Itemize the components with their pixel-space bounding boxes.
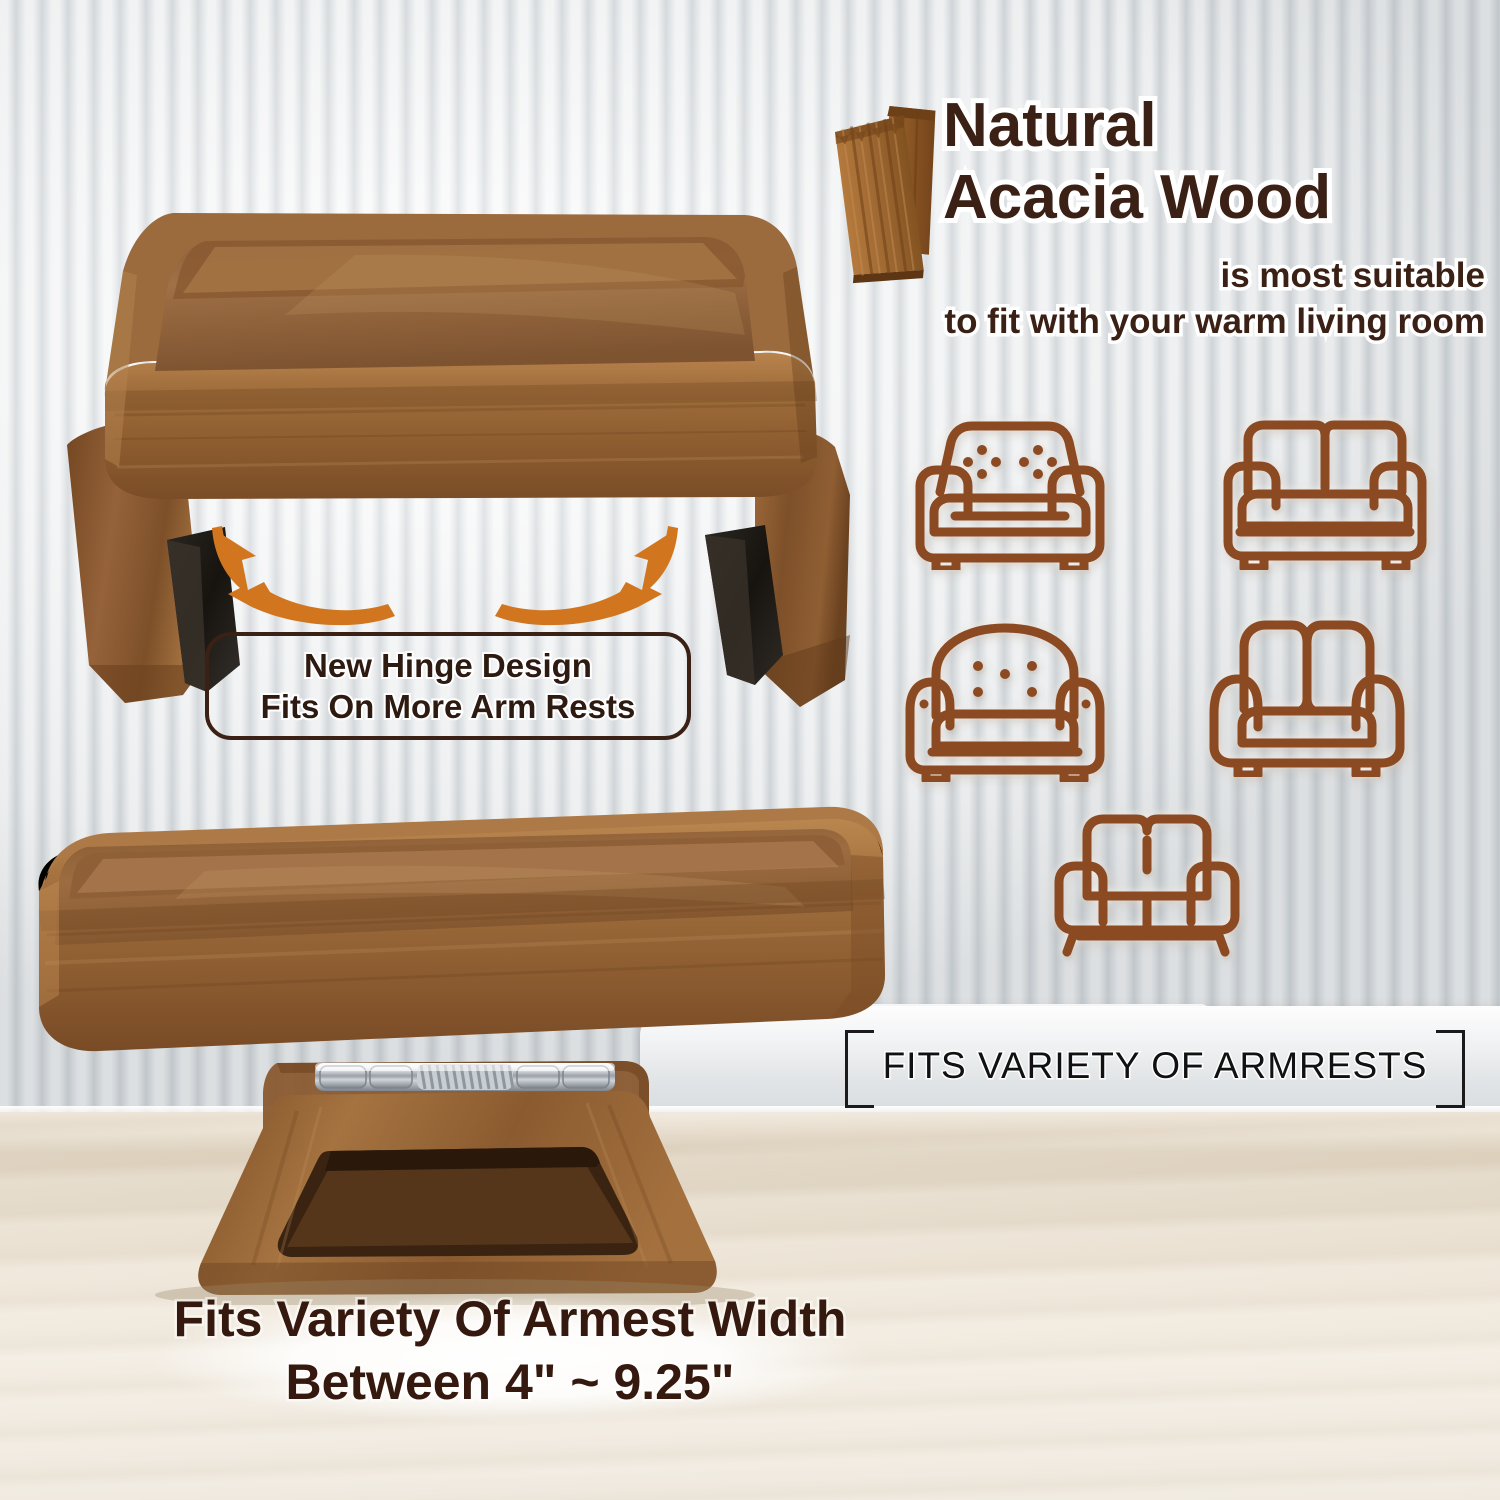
armrest-type-icon-grid: [900, 412, 1460, 992]
curved-arrow-right-icon: [495, 526, 678, 625]
sofa-boxy-tufted-icon: [910, 420, 1110, 575]
curved-arrow-left-icon: [212, 526, 395, 625]
headline-line2: Acacia Wood: [943, 160, 1488, 236]
sofa-rolled-arm-icon: [1200, 617, 1415, 782]
sofa-two-seat-icon: [1045, 812, 1250, 962]
armchair-rounded-tufted-icon: [900, 622, 1110, 787]
new-hinge-design-badge: New Hinge Design Fits On More Arm Rests: [205, 632, 691, 740]
bracket-left-icon: [845, 1030, 874, 1108]
acacia-wood-tray-hinged: [25, 795, 905, 1305]
bottom-caption: Fits Variety Of Armest Width Between 4" …: [80, 1288, 940, 1414]
hinge-badge-line2: Fits On More Arm Rests: [261, 686, 636, 727]
bracket-right-icon: [1436, 1030, 1465, 1108]
subtitle-line1: is most suitable: [815, 253, 1485, 299]
subtitle-line2: to fit with your warm living room: [815, 299, 1485, 345]
headline-subtitle: is most suitable to fit with your warm l…: [815, 253, 1485, 345]
caption-line1: Fits Variety Of Armest Width: [80, 1288, 940, 1351]
fits-variety-armrests-badge: FITS VARIETY OF ARMRESTS: [845, 1030, 1465, 1102]
headline-line1: Natural: [943, 88, 1488, 164]
caption-line2: Between 4" ~ 9.25": [80, 1351, 940, 1414]
armrest-badge-text: FITS VARIETY OF ARMRESTS: [883, 1045, 1428, 1087]
sofa-loveseat-square-icon: [1220, 420, 1430, 575]
hinge-motion-arrows: [190, 498, 700, 643]
product-infographic: New Hinge Design Fits On More Arm Rests: [0, 0, 1500, 1500]
headline-lines: Natural Acacia Wood: [943, 88, 1488, 236]
hinge-badge-line1: New Hinge Design: [304, 645, 592, 686]
spring-hinge: [315, 1063, 615, 1091]
